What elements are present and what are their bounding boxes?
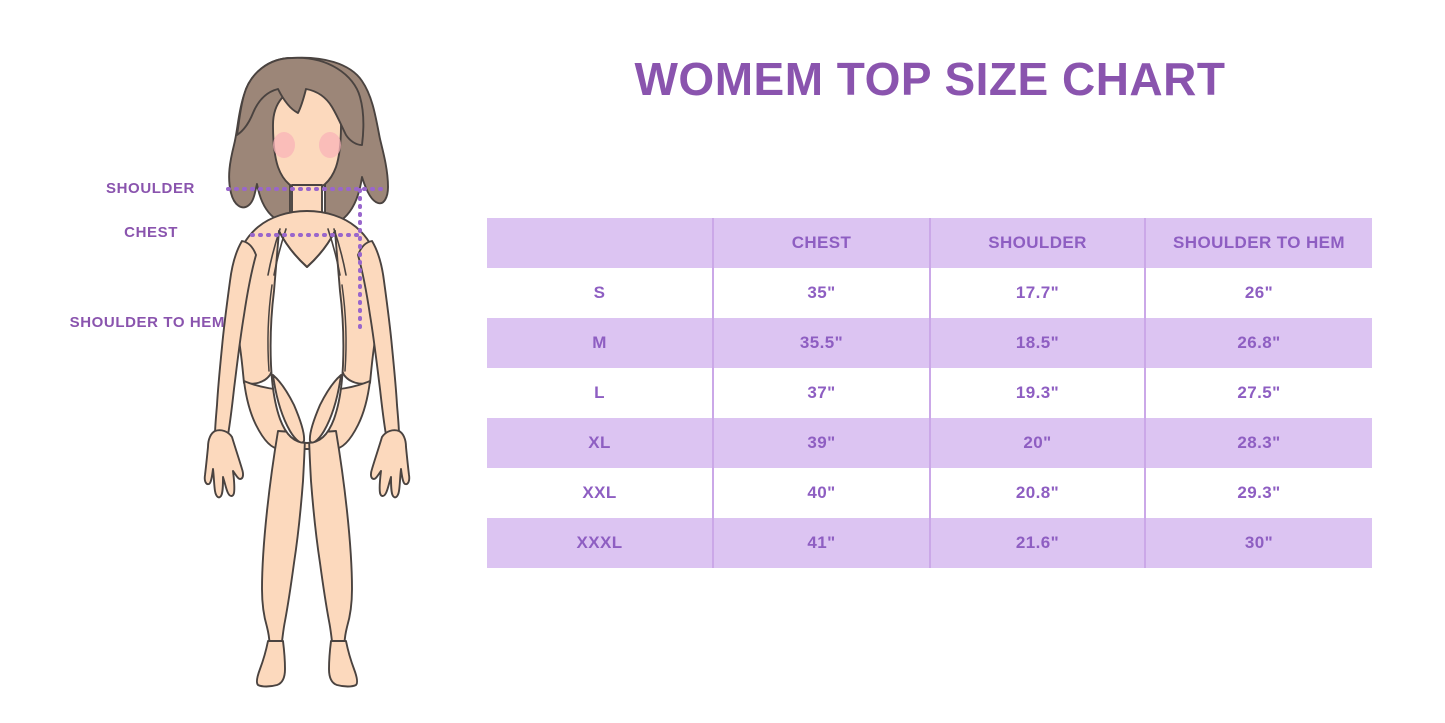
measurement-label-shoulder: SHOULDER	[0, 180, 195, 197]
foot-right-shape	[329, 641, 357, 687]
cell-chest: 41"	[713, 518, 930, 568]
column-header-shoulder: SHOULDER	[930, 218, 1145, 268]
body-figure-illustration	[170, 45, 415, 690]
cell-shoulder-to-hem: 30"	[1145, 518, 1372, 568]
cell-size: L	[487, 368, 713, 418]
column-header-chest: CHEST	[713, 218, 930, 268]
cell-chest: 39"	[713, 418, 930, 468]
cell-shoulder: 20.8"	[930, 468, 1145, 518]
table-header-row: CHEST SHOULDER SHOULDER TO HEM	[487, 218, 1372, 268]
leg-left-shape	[262, 431, 305, 657]
column-header-size	[487, 218, 713, 268]
cell-chest: 37"	[713, 368, 930, 418]
cell-size: XL	[487, 418, 713, 468]
hand-right-shape	[371, 430, 409, 497]
page-title: WOMEM TOP SIZE CHART	[480, 52, 1380, 106]
hand-left-shape	[205, 430, 243, 497]
cell-size: XXL	[487, 468, 713, 518]
cell-chest: 40"	[713, 468, 930, 518]
size-chart-table: CHEST SHOULDER SHOULDER TO HEM S 35" 17.…	[487, 218, 1372, 568]
cell-size: S	[487, 268, 713, 318]
foot-left-shape	[257, 641, 285, 687]
cell-shoulder-to-hem: 26.8"	[1145, 318, 1372, 368]
cell-shoulder: 19.3"	[930, 368, 1145, 418]
table-row: XXL 40" 20.8" 29.3"	[487, 468, 1372, 518]
cell-chest: 35.5"	[713, 318, 930, 368]
table-row: L 37" 19.3" 27.5"	[487, 368, 1372, 418]
cell-shoulder-to-hem: 28.3"	[1145, 418, 1372, 468]
cell-shoulder-to-hem: 26"	[1145, 268, 1372, 318]
blush-left	[273, 132, 295, 158]
cell-chest: 35"	[713, 268, 930, 318]
cell-shoulder: 17.7"	[930, 268, 1145, 318]
leg-right-shape	[309, 431, 352, 657]
cell-shoulder-to-hem: 27.5"	[1145, 368, 1372, 418]
table-row: S 35" 17.7" 26"	[487, 268, 1372, 318]
blush-right	[319, 132, 341, 158]
cell-size: XXXL	[487, 518, 713, 568]
cell-shoulder-to-hem: 29.3"	[1145, 468, 1372, 518]
table-row: XL 39" 20" 28.3"	[487, 418, 1372, 468]
table-row: XXXL 41" 21.6" 30"	[487, 518, 1372, 568]
measurement-label-chest: CHEST	[0, 224, 178, 241]
column-header-shoulder-to-hem: SHOULDER TO HEM	[1145, 218, 1372, 268]
cell-shoulder: 21.6"	[930, 518, 1145, 568]
cell-shoulder: 20"	[930, 418, 1145, 468]
table-row: M 35.5" 18.5" 26.8"	[487, 318, 1372, 368]
cell-shoulder: 18.5"	[930, 318, 1145, 368]
cell-size: M	[487, 318, 713, 368]
